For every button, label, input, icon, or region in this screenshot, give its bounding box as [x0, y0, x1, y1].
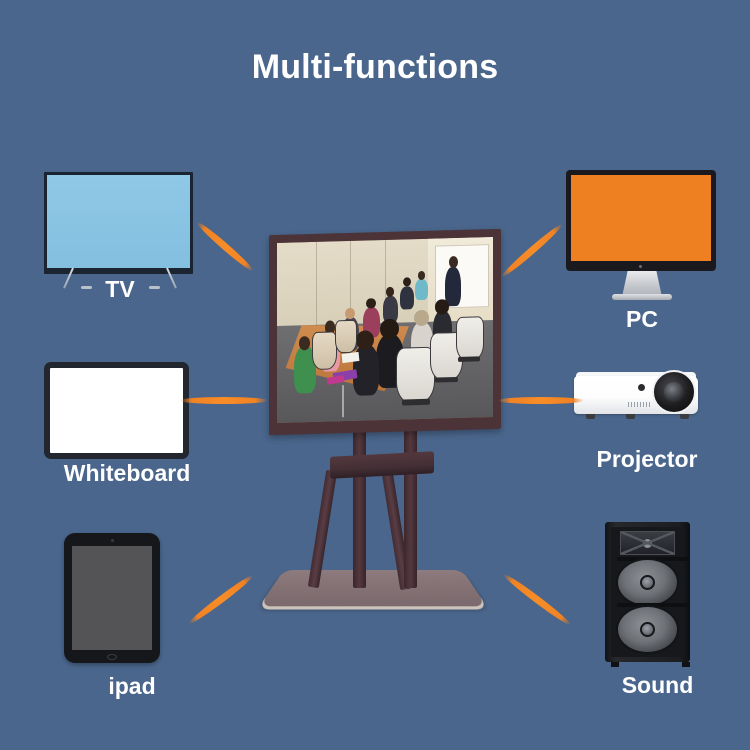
node-label-sound: Sound: [585, 672, 730, 699]
projector-lens-inner: [664, 382, 684, 402]
node-label-projector: Projector: [552, 446, 742, 473]
projector-sensor: [638, 384, 645, 391]
photo-head-presenter: [449, 256, 458, 268]
tablet-camera: [111, 539, 114, 542]
node-label-whiteboard: Whiteboard: [32, 460, 222, 487]
photo-person-7: [415, 278, 428, 300]
tv-screen: [47, 175, 190, 268]
display-stand-post-right: [404, 422, 417, 588]
node-label-pc: PC: [552, 306, 732, 333]
arrow-from-whiteboard: [180, 397, 268, 404]
photo-chair-base-3: [458, 356, 480, 362]
photo-table-leg: [342, 385, 344, 417]
projector-vent: [628, 402, 650, 407]
interactive-flat-panel-display[interactable]: [255, 232, 505, 622]
whiteboard-icon: [44, 362, 189, 459]
pc-stand-base: [612, 294, 672, 300]
speaker-woofer-bottom: [616, 605, 679, 654]
arrow-to-sound: [501, 571, 572, 627]
photo-chair-3: [456, 316, 484, 360]
loudspeaker-icon: [605, 522, 690, 662]
speaker-face: [611, 527, 684, 657]
pc-indicator-dot: [639, 265, 642, 268]
speaker-foot-left: [611, 662, 619, 667]
node-projector[interactable]: Projector: [552, 358, 742, 493]
television-icon: [44, 172, 193, 274]
photo-chair-4: [312, 331, 338, 370]
node-label-tv: TV: [30, 276, 210, 303]
speaker-foot-right: [682, 662, 690, 667]
display-stand-shelf: [330, 451, 434, 478]
projector-foot-2: [626, 414, 635, 419]
node-label-ipad: ipad: [42, 673, 222, 700]
node-whiteboard[interactable]: Whiteboard: [32, 352, 222, 497]
projector-foot-1: [586, 414, 595, 419]
speaker-horn-pattern: [621, 532, 674, 554]
photo-chair-base-1: [402, 399, 430, 405]
tablet-screen: [72, 546, 152, 650]
speaker-tweeter-horn: [620, 531, 675, 555]
display-stand-post-left: [353, 428, 366, 588]
tablet-icon: [64, 533, 160, 663]
photo-head-foreground-3: [414, 310, 429, 327]
node-pc[interactable]: PC: [552, 160, 732, 310]
node-sound[interactable]: Sound: [585, 512, 730, 707]
photo-head-foreground-4: [435, 299, 448, 314]
photo-paper: [341, 351, 359, 362]
pc-screen: [571, 175, 711, 261]
display-stand-base: [259, 570, 486, 606]
projector-foot-3: [680, 414, 689, 419]
photo-head-7: [418, 270, 426, 279]
display-bezel: [269, 229, 501, 435]
photo-chair-base-2: [435, 377, 459, 383]
node-tv[interactable]: TV: [30, 160, 210, 310]
whiteboard-surface: [50, 368, 183, 453]
multi-functions-diagram: Multi-functions TV PC Whiteboard: [0, 0, 750, 750]
photo-head-4: [366, 298, 375, 309]
photo-person-presenter: [445, 267, 460, 307]
photo-chair-1: [396, 347, 435, 404]
photo-chair-5: [335, 320, 356, 353]
photo-person-6: [400, 286, 414, 310]
speaker-woofer-top: [616, 558, 679, 607]
page-title: Multi-functions: [0, 48, 750, 87]
arrow-to-projector: [498, 397, 584, 404]
tablet-home-button: [107, 654, 117, 660]
desktop-monitor-icon: [566, 170, 716, 271]
display-screen: [277, 237, 493, 423]
meeting-room-photo: [277, 237, 493, 423]
